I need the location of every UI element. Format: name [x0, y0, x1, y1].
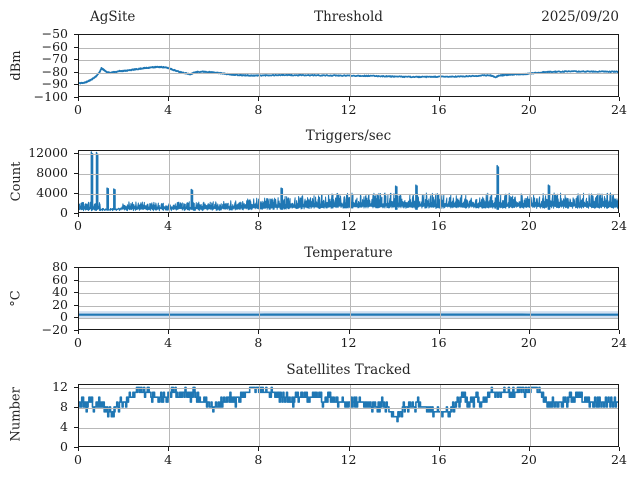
x-tick-mark — [619, 330, 620, 334]
gridline-vertical — [169, 151, 170, 212]
plot-area-satellites — [78, 384, 619, 447]
gridline-vertical — [259, 35, 260, 96]
x-tick-mark — [439, 330, 440, 334]
gridline-horizontal — [79, 154, 618, 155]
y-tick-mark — [74, 47, 78, 48]
panel-title-temperature: Temperature — [78, 245, 619, 262]
gridline-vertical — [259, 385, 260, 446]
gridline-horizontal — [79, 194, 618, 195]
y-tick-label: 8 — [60, 401, 68, 413]
y-tick-mark — [74, 193, 78, 194]
x-tick-mark — [168, 447, 169, 451]
x-tick-mark — [349, 97, 350, 101]
y-tick-mark — [74, 280, 78, 281]
y-tick-mark — [74, 34, 78, 35]
gridline-horizontal — [79, 388, 618, 389]
y-tick-mark — [74, 427, 78, 428]
x-tick-mark — [78, 97, 79, 101]
x-tick-mark — [619, 213, 620, 217]
gridline-vertical — [440, 151, 441, 212]
panel-satellites: Satellites Tracked 04812 04812162024 Num… — [0, 362, 640, 480]
gridline-vertical — [530, 35, 531, 96]
x-tick-label: 16 — [431, 453, 447, 467]
x-tick-mark — [529, 97, 530, 101]
y-tick-mark — [74, 153, 78, 154]
y-tick-mark — [74, 305, 78, 306]
gridline-horizontal — [79, 428, 618, 429]
x-tick-label: 12 — [341, 103, 357, 117]
gridline-vertical — [440, 385, 441, 446]
gridline-vertical — [169, 35, 170, 96]
x-tick-label: 0 — [74, 453, 82, 467]
y-axis-label-threshold: dBm — [10, 50, 23, 81]
x-tick-label: 0 — [74, 103, 82, 117]
temperature-trace — [79, 268, 618, 329]
satellites-trace — [79, 385, 618, 446]
threshold-trace — [79, 35, 618, 96]
gridline-horizontal — [79, 60, 618, 61]
x-tick-label: 12 — [341, 219, 357, 233]
figure-title: Threshold — [78, 8, 619, 26]
x-tick-mark — [78, 447, 79, 451]
x-tick-mark — [258, 97, 259, 101]
x-tick-label: 24 — [611, 219, 627, 233]
x-tick-label: 4 — [164, 219, 172, 233]
x-tick-mark — [439, 213, 440, 217]
x-tick-mark — [619, 97, 620, 101]
x-tick-mark — [439, 97, 440, 101]
x-tick-mark — [349, 330, 350, 334]
x-tick-mark — [78, 330, 79, 334]
x-tick-mark — [78, 213, 79, 217]
y-axis-label-triggers: Count — [10, 159, 23, 204]
x-tick-label: 4 — [164, 453, 172, 467]
y-tick-label: 4 — [60, 421, 68, 433]
x-tick-mark — [619, 447, 620, 451]
gridline-horizontal — [79, 281, 618, 282]
x-tick-label: 16 — [431, 103, 447, 117]
panel-title-triggers: Triggers/sec — [78, 128, 619, 145]
gridline-horizontal — [79, 85, 618, 86]
gridline-horizontal — [79, 318, 618, 319]
x-tick-mark — [258, 213, 259, 217]
y-tick-mark — [74, 407, 78, 408]
x-tick-label: 0 — [74, 336, 82, 350]
y-tick-mark — [74, 173, 78, 174]
gridline-horizontal — [79, 48, 618, 49]
y-tick-label: −20 — [42, 324, 68, 336]
plot-area-temperature — [78, 267, 619, 330]
x-tick-label: 8 — [254, 219, 262, 233]
gridline-horizontal — [79, 306, 618, 307]
y-tick-mark — [74, 387, 78, 388]
gridline-vertical — [350, 385, 351, 446]
panel-temperature: Temperature 806040200−20 04812162024 °C — [0, 245, 640, 363]
triggers-trace — [79, 151, 618, 212]
x-tick-mark — [168, 330, 169, 334]
gridline-vertical — [259, 268, 260, 329]
x-tick-mark — [439, 447, 440, 451]
x-tick-mark — [168, 213, 169, 217]
gridline-vertical — [259, 151, 260, 212]
x-tick-mark — [258, 330, 259, 334]
gridline-vertical — [530, 268, 531, 329]
x-tick-label: 24 — [611, 103, 627, 117]
gridline-vertical — [169, 268, 170, 329]
y-tick-label: 8000 — [36, 167, 68, 179]
x-tick-mark — [529, 213, 530, 217]
gridline-vertical — [440, 268, 441, 329]
gridline-vertical — [530, 385, 531, 446]
gridline-vertical — [440, 35, 441, 96]
y-tick-label: 4000 — [36, 187, 68, 199]
gridline-vertical — [530, 151, 531, 212]
x-tick-label: 20 — [521, 453, 537, 467]
x-tick-label: 16 — [431, 336, 447, 350]
gridline-horizontal — [79, 174, 618, 175]
x-tick-label: 8 — [254, 103, 262, 117]
figure-header: AgSite Threshold 2025/09/20 — [78, 8, 619, 28]
y-axis-label-temperature: °C — [10, 286, 23, 310]
y-tick-mark — [74, 267, 78, 268]
y-tick-mark — [74, 84, 78, 85]
x-tick-label: 8 — [254, 336, 262, 350]
panel-triggers: Triggers/sec 04000800012000 04812162024 … — [0, 128, 640, 246]
x-tick-label: 4 — [164, 103, 172, 117]
y-tick-label: 0 — [60, 207, 68, 219]
gridline-vertical — [350, 35, 351, 96]
x-tick-label: 0 — [74, 219, 82, 233]
y-tick-mark — [74, 59, 78, 60]
x-tick-label: 16 — [431, 219, 447, 233]
x-tick-label: 12 — [341, 453, 357, 467]
y-tick-mark — [74, 72, 78, 73]
gridline-horizontal — [79, 293, 618, 294]
gridline-vertical — [169, 385, 170, 446]
x-tick-label: 8 — [254, 453, 262, 467]
x-tick-mark — [168, 97, 169, 101]
x-tick-mark — [529, 447, 530, 451]
x-tick-mark — [258, 447, 259, 451]
x-tick-label: 20 — [521, 336, 537, 350]
x-tick-mark — [349, 213, 350, 217]
y-tick-label: 12 — [52, 381, 68, 393]
y-tick-mark — [74, 292, 78, 293]
x-tick-label: 20 — [521, 103, 537, 117]
gridline-vertical — [350, 268, 351, 329]
x-tick-label: 12 — [341, 336, 357, 350]
figure-canvas: AgSite Threshold 2025/09/20 −50−60−70−80… — [0, 0, 640, 480]
y-tick-mark — [74, 317, 78, 318]
x-tick-label: 24 — [611, 453, 627, 467]
y-tick-label: −100 — [34, 91, 68, 103]
x-tick-label: 4 — [164, 336, 172, 350]
panel-title-satellites: Satellites Tracked — [78, 362, 619, 379]
plot-area-threshold — [78, 34, 619, 97]
plot-area-triggers — [78, 150, 619, 213]
y-axis-label-satellites: Number — [10, 389, 23, 441]
y-tick-label: 0 — [60, 441, 68, 453]
gridline-vertical — [350, 151, 351, 212]
y-tick-label: 12000 — [28, 147, 68, 159]
x-tick-label: 20 — [521, 219, 537, 233]
x-tick-label: 24 — [611, 336, 627, 350]
x-tick-mark — [529, 330, 530, 334]
x-tick-mark — [349, 447, 350, 451]
gridline-horizontal — [79, 73, 618, 74]
date-label: 2025/09/20 — [541, 8, 619, 26]
gridline-horizontal — [79, 408, 618, 409]
